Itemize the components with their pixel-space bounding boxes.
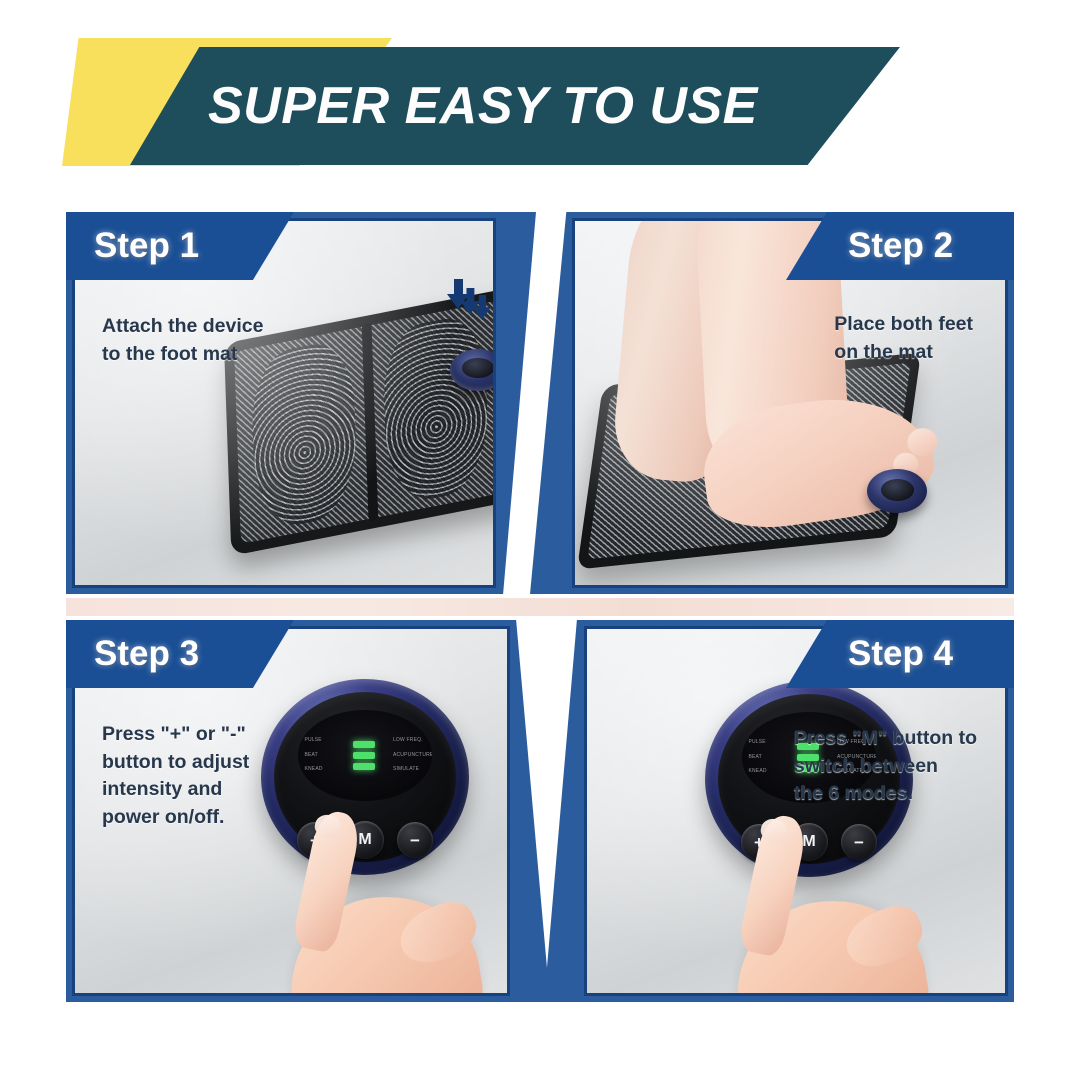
control-device <box>867 469 927 513</box>
poster-root: SUPER EASY TO USE <box>0 0 1080 1080</box>
header-banner: SUPER EASY TO USE <box>0 0 1080 190</box>
display-label: BEAT <box>748 755 762 761</box>
steps-row-top: Attach the device to the foot mat Step 1 <box>66 212 1014 594</box>
display-label: PULSE <box>748 740 765 746</box>
step-3-label: Step 3 <box>94 634 199 674</box>
foot-mat <box>224 288 496 556</box>
step-panel-3[interactable]: PULSE BEAT KNEAD LOW FREQ. ACUPUNCTURE <box>66 620 550 1002</box>
display-label: PULSE <box>304 738 321 744</box>
step-2-label: Step 2 <box>848 226 953 266</box>
display-label: KNEAD <box>304 767 322 773</box>
step-4-caption: Press "M" button to switch between the 6… <box>794 725 977 808</box>
page-title: SUPER EASY TO USE <box>208 76 758 136</box>
steps-row-bottom: PULSE BEAT KNEAD LOW FREQ. ACUPUNCTURE <box>66 620 1014 1002</box>
step-panel-1[interactable]: Attach the device to the foot mat Step 1 <box>66 212 536 594</box>
control-device[interactable]: PULSE BEAT KNEAD LOW FREQ. ACUPUNCTURE <box>261 679 469 875</box>
display-label: BEAT <box>304 753 318 759</box>
step-2-caption: Place both feet on the mat <box>834 311 973 366</box>
display-label: KNEAD <box>748 769 766 775</box>
minus-button[interactable]: − <box>397 822 433 858</box>
display-label: LOW FREQ. <box>393 738 423 744</box>
step-panel-4[interactable]: PULSE BEAT KNEAD LOW FREQ. ACUPUNCTURE <box>544 620 1014 1002</box>
step-1-label: Step 1 <box>94 226 199 266</box>
banner-teal-shape: SUPER EASY TO USE <box>130 47 900 165</box>
step-4-label: Step 4 <box>848 634 953 674</box>
display-label: SIMULATE <box>393 767 419 773</box>
device-display: PULSE BEAT KNEAD LOW FREQ. ACUPUNCTURE <box>298 710 431 800</box>
minus-button[interactable]: − <box>841 824 877 860</box>
step-3-caption: Press "+" or "-" button to adjust intens… <box>102 721 249 832</box>
display-label: ACUPUNCTURE <box>393 753 432 759</box>
step-panel-2[interactable]: Place both feet on the mat Step 2 <box>530 212 1014 594</box>
row-separator <box>66 598 1014 616</box>
step-1-caption: Attach the device to the foot mat <box>102 313 263 368</box>
display-intensity-value <box>338 741 389 770</box>
steps-grid: Attach the device to the foot mat Step 1 <box>66 212 1014 1002</box>
